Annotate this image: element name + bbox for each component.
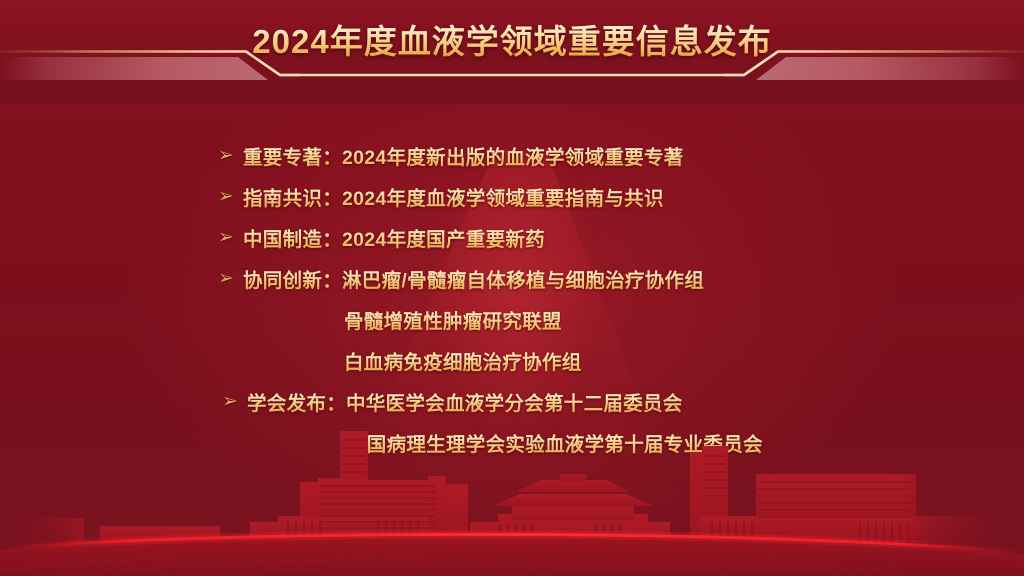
list-subitem: 白血病免疫细胞治疗协作组 <box>0 340 1024 381</box>
bullet-list: ➢ 重要专著：2024年度新出版的血液学领域重要专著 ➢ 指南共识：2024年度… <box>0 135 1024 463</box>
list-item: ➢ 协同创新：淋巴瘤/骨髓瘤自体移植与细胞治疗协作组 <box>0 258 1024 299</box>
title-banner: 2024年度血液学领域重要信息发布 <box>0 0 1024 104</box>
list-subitem-label: 骨髓增殖性肿瘤研究联盟 <box>344 305 562 334</box>
presentation-slide: 2024年度血液学领域重要信息发布 ➢ 重要专著：2024年度新出版的血液学领域… <box>0 0 1024 576</box>
arrow-bullet-icon: ➢ <box>218 187 234 206</box>
skyline-decoration <box>0 426 1024 576</box>
list-item-label: 重要专著：2024年度新出版的血液学领域重要专著 <box>243 141 684 170</box>
list-subitem-label: 白血病免疫细胞治疗协作组 <box>344 346 582 375</box>
list-item-label: 学会发布：中华医学会血液学分会第十二届委员会 <box>247 387 683 416</box>
arrow-bullet-icon: ➢ <box>222 392 238 411</box>
list-item: ➢ 指南共识：2024年度血液学领域重要指南与共识 <box>0 176 1024 217</box>
list-subitem: 骨髓增殖性肿瘤研究联盟 <box>0 299 1024 340</box>
arrow-bullet-icon: ➢ <box>218 228 234 247</box>
list-item-label: 中国制造：2024年度国产重要新药 <box>243 223 545 252</box>
arrow-bullet-icon: ➢ <box>218 146 234 165</box>
arrow-bullet-icon: ➢ <box>218 269 234 288</box>
list-item: ➢ 中国制造：2024年度国产重要新药 <box>0 217 1024 258</box>
list-item: ➢ 重要专著：2024年度新出版的血液学领域重要专著 <box>0 135 1024 176</box>
list-item-label: 协同创新：淋巴瘤/骨髓瘤自体移植与细胞治疗协作组 <box>243 264 704 293</box>
list-item: ➢ 学会发布：中华医学会血液学分会第十二届委员会 <box>0 381 1024 422</box>
list-item-label: 指南共识：2024年度血液学领域重要指南与共识 <box>243 182 664 211</box>
